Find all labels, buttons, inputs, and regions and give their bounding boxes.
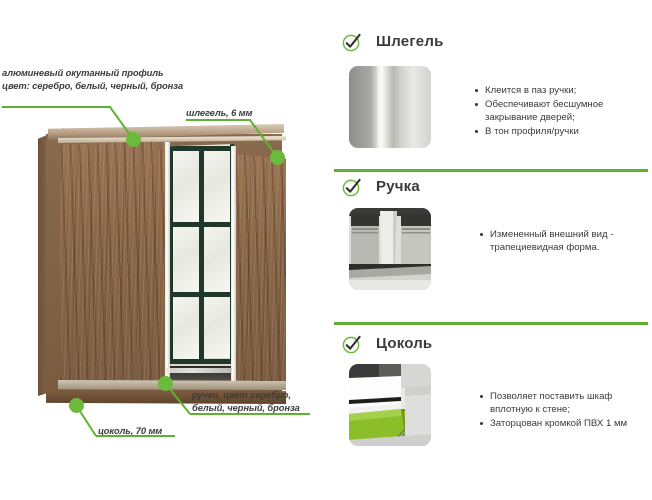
feature-header-shlegel: Шлегель xyxy=(342,31,444,52)
mirror-pane xyxy=(204,296,230,358)
callout-shlegel-rule xyxy=(186,119,251,121)
bullet-item: Позволяет поставить шкаф вплотную к стен… xyxy=(479,390,651,416)
callout-shlegel-text: шлегель, 6 мм xyxy=(186,106,316,119)
callout-profile-rule xyxy=(2,106,111,108)
mirror-mullion xyxy=(199,146,204,364)
feature-bullets-tsokol: Позволяет поставить шкаф вплотную к стен… xyxy=(479,390,651,431)
bullet-item: Заторцован кромкой ПВХ 1 мм xyxy=(479,417,651,430)
check-circle-icon xyxy=(342,31,363,52)
callout-plinth-rule xyxy=(96,435,175,437)
shlegel-brush-strip xyxy=(377,66,386,148)
shlegel-photo xyxy=(349,66,431,148)
wardrobe-image xyxy=(38,118,288,408)
bullet-item: В тон профиля/ручки xyxy=(474,125,642,138)
feature-bullets-ruchka: Измененный внешний вид - трапециевидная … xyxy=(479,228,644,255)
mirror-pane xyxy=(204,226,230,292)
mirror-pane xyxy=(173,228,199,294)
mirror-pane xyxy=(173,150,199,224)
wardrobe-mirror-door xyxy=(168,144,234,386)
marker-dot-shlegel xyxy=(270,150,285,165)
mirror-rail xyxy=(170,359,234,364)
mirror-rail xyxy=(170,146,234,151)
callout-handles-rule xyxy=(190,413,310,415)
mirror-mullion xyxy=(170,148,173,364)
mirror-rail xyxy=(170,222,234,227)
wardrobe-door-right xyxy=(234,154,286,384)
handle-photo xyxy=(349,208,431,290)
wardrobe-illustration-panel: алюминевый окутанный профиль цвет: сереб… xyxy=(0,0,330,500)
feature-header-ruchka: Ручка xyxy=(342,176,420,197)
bullet-item: Измененный внешний вид - трапециевидная … xyxy=(479,228,644,254)
bullet-item: Клеится в паз ручки; xyxy=(474,84,642,97)
callout-profile-text: алюминевый окутанный профиль цвет: сереб… xyxy=(2,66,202,92)
aluminium-profile-left xyxy=(165,142,170,386)
feature-divider xyxy=(334,169,648,172)
aluminium-profile-right xyxy=(231,146,236,386)
marker-dot-profile xyxy=(126,132,141,147)
feature-title-ruchka: Ручка xyxy=(376,178,420,195)
mirror-pane xyxy=(173,298,199,360)
callout-handles-text: ручки, цвет серебро, белый, черный, брон… xyxy=(192,388,327,414)
check-circle-icon xyxy=(342,176,363,197)
feature-divider xyxy=(334,322,648,325)
marker-dot-plinth xyxy=(69,398,84,413)
mirror-pane xyxy=(204,148,230,222)
feature-bullets-shlegel: Клеится в паз ручки; Обеспечивают бесшум… xyxy=(474,84,642,139)
mirror-rail xyxy=(170,292,234,297)
plinth-photo xyxy=(349,364,431,446)
slide-root: алюминевый окутанный профиль цвет: сереб… xyxy=(0,0,652,500)
marker-dot-handles xyxy=(158,376,173,391)
feature-header-tsokol: Цоколь xyxy=(342,333,432,354)
wardrobe-door-left xyxy=(60,140,168,388)
feature-title-tsokol: Цоколь xyxy=(376,335,432,352)
feature-title-shlegel: Шлегель xyxy=(376,33,444,50)
check-circle-icon xyxy=(342,333,363,354)
handle-rail xyxy=(166,368,232,373)
bullet-item: Обеспечивают бесшумное закрывание дверей… xyxy=(474,98,642,124)
features-panel: Шлегель Клеится в паз ручки; Обеспечиваю… xyxy=(330,0,652,500)
